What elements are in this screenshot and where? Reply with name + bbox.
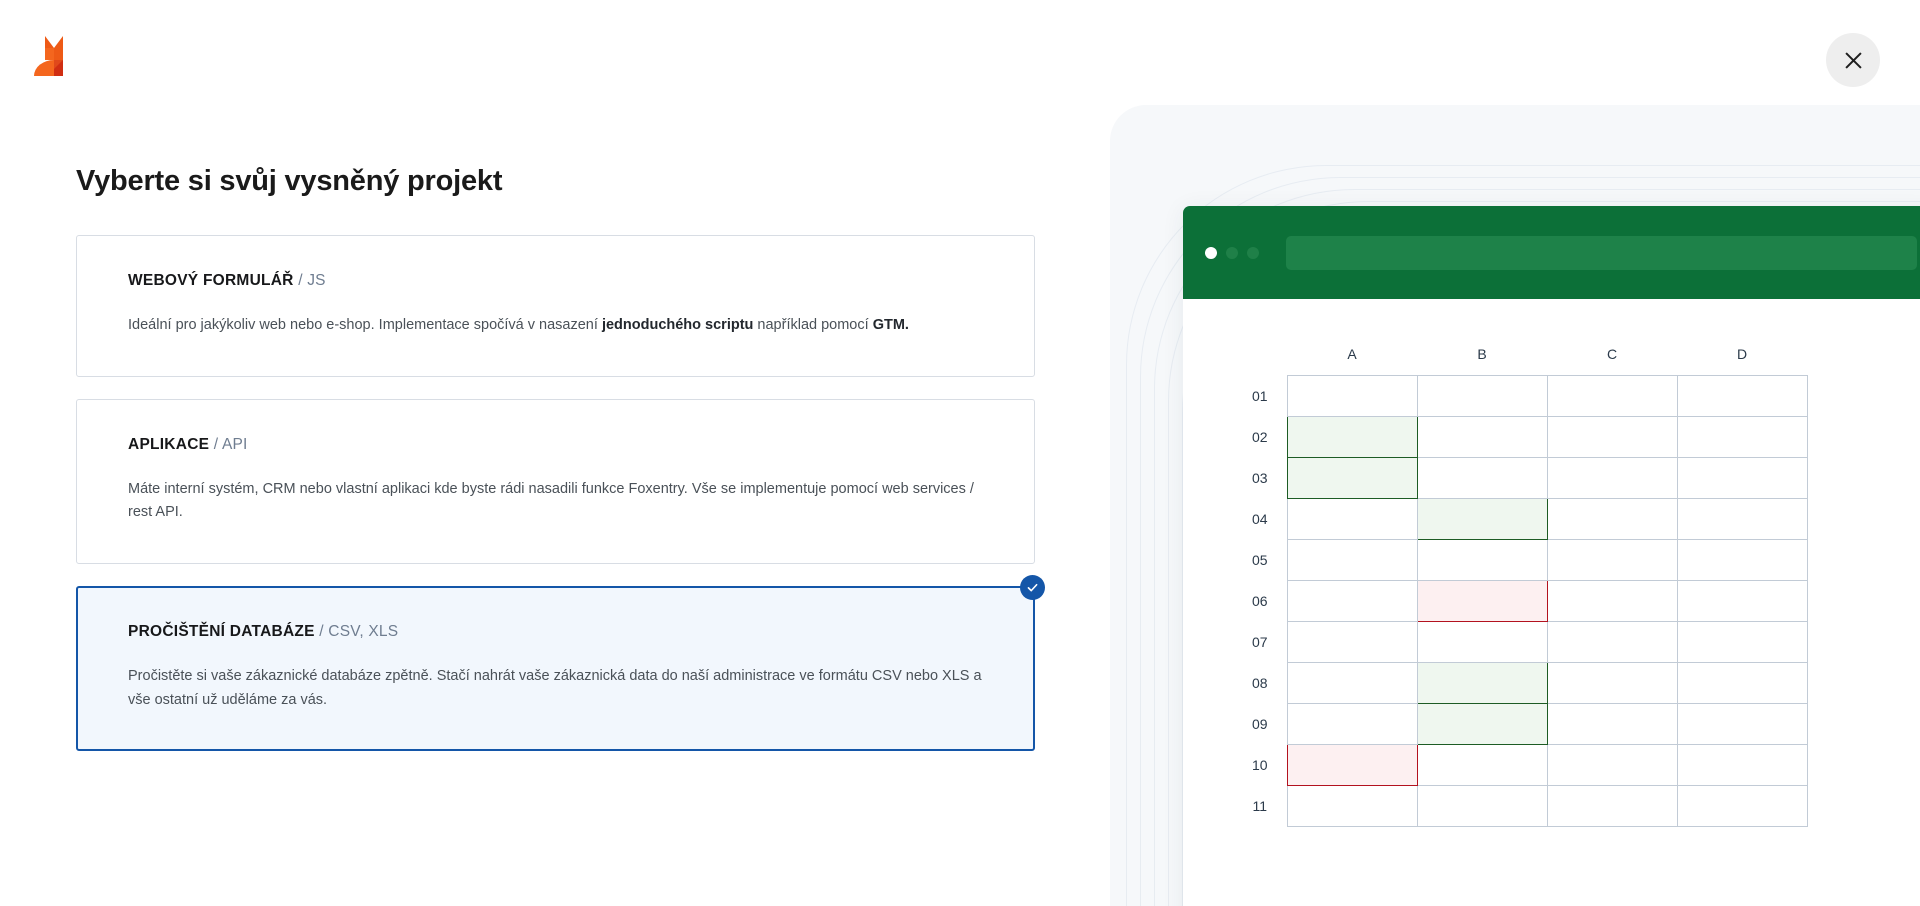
status-badge (1020, 575, 1045, 600)
screen-root: × Vyberte si svůj vysněný projekt WEBOVÝ… (0, 0, 1920, 906)
option-card-format: / API (214, 436, 248, 453)
option-card-format: / JS (298, 272, 326, 289)
option-card-description: Ideální pro jakýkoliv web nebo e-shop. I… (128, 314, 983, 338)
spreadsheet-row-header: 09 (1233, 703, 1287, 744)
spreadsheet-cell-B02[interactable] (1417, 416, 1547, 457)
option-card-description: Pročistěte si vaše zákaznické databáze z… (128, 665, 983, 712)
spreadsheet-cell-C06[interactable] (1547, 580, 1677, 621)
close-button[interactable]: × (1826, 33, 1880, 87)
spreadsheet-cell-C02[interactable] (1547, 416, 1677, 457)
spreadsheet-cell-A09[interactable] (1287, 703, 1417, 744)
spreadsheet-cell-D04[interactable] (1677, 498, 1807, 539)
spreadsheet-cell-C05[interactable] (1547, 539, 1677, 580)
option-card-list: WEBOVÝ FORMULÁŘ / JS Ideální pro jakýkol… (76, 235, 1035, 773)
spreadsheet-row: 07 (1233, 621, 1807, 662)
spreadsheet-row-header: 02 (1233, 416, 1287, 457)
window-dot-active (1205, 247, 1217, 259)
spreadsheet-row-header: 07 (1233, 621, 1287, 662)
spreadsheet-cell-A08[interactable] (1287, 662, 1417, 703)
desc-segment-bold: jednoduchého scriptu (602, 317, 753, 333)
spreadsheet-cell-B05[interactable] (1417, 539, 1547, 580)
spreadsheet-column-header: D (1677, 333, 1807, 375)
spreadsheet-cell-B01[interactable] (1417, 375, 1547, 416)
spreadsheet-cell-D11[interactable] (1677, 785, 1807, 826)
spreadsheet-row-header: 11 (1233, 785, 1287, 826)
option-card-title: WEBOVÝ FORMULÁŘ / JS (128, 272, 983, 290)
spreadsheet-cell-A04[interactable] (1287, 498, 1417, 539)
option-card-application[interactable]: APLIKACE / API Máte interní systém, CRM … (76, 399, 1035, 564)
spreadsheet-grid: A B C D 0102030405060708091011 (1233, 333, 1808, 827)
spreadsheet-cell-D01[interactable] (1677, 375, 1807, 416)
spreadsheet-cell-A02[interactable] (1287, 416, 1417, 457)
spreadsheet-cell-A06[interactable] (1287, 580, 1417, 621)
page-title: Vyberte si svůj vysněný projekt (76, 165, 502, 198)
spreadsheet-cell-D05[interactable] (1677, 539, 1807, 580)
spreadsheet-cell-B11[interactable] (1417, 785, 1547, 826)
spreadsheet-cell-B04[interactable] (1417, 498, 1547, 539)
spreadsheet-cell-A10[interactable] (1287, 744, 1417, 785)
desc-segment: Máte interní systém, CRM nebo vlastní ap… (128, 481, 974, 521)
browser-titlebar (1183, 206, 1920, 299)
spreadsheet-cell-A03[interactable] (1287, 457, 1417, 498)
spreadsheet-cell-C07[interactable] (1547, 621, 1677, 662)
option-card-title-text: PROČIŠTĚNÍ DATABÁZE (128, 623, 315, 640)
option-card-format: / CSV, XLS (319, 623, 398, 640)
spreadsheet-cell-A11[interactable] (1287, 785, 1417, 826)
spreadsheet-row-header: 01 (1233, 375, 1287, 416)
spreadsheet-row: 06 (1233, 580, 1807, 621)
spreadsheet-row-header: 03 (1233, 457, 1287, 498)
option-card-title-text: APLIKACE (128, 436, 209, 453)
spreadsheet-column-header: C (1547, 333, 1677, 375)
spreadsheet-row: 01 (1233, 375, 1807, 416)
spreadsheet-row: 04 (1233, 498, 1807, 539)
desc-segment: Pročistěte si vaše zákaznické databáze z… (128, 668, 982, 708)
option-card-database-cleanup[interactable]: PROČIŠTĚNÍ DATABÁZE / CSV, XLS Pročistět… (76, 586, 1035, 751)
spreadsheet-row: 10 (1233, 744, 1807, 785)
spreadsheet-row-header: 08 (1233, 662, 1287, 703)
desc-segment: například pomocí (753, 317, 872, 333)
spreadsheet-cell-D03[interactable] (1677, 457, 1807, 498)
spreadsheet-cell-D08[interactable] (1677, 662, 1807, 703)
spreadsheet-cell-C01[interactable] (1547, 375, 1677, 416)
preview-panel: A B C D 0102030405060708091011 (1110, 105, 1920, 906)
spreadsheet-cell-C04[interactable] (1547, 498, 1677, 539)
spreadsheet-column-header: A (1287, 333, 1417, 375)
spreadsheet-cell-A05[interactable] (1287, 539, 1417, 580)
spreadsheet-cell-A01[interactable] (1287, 375, 1417, 416)
spreadsheet-body: 0102030405060708091011 (1233, 375, 1807, 826)
spreadsheet-row: 05 (1233, 539, 1807, 580)
spreadsheet-row: 02 (1233, 416, 1807, 457)
spreadsheet-cell-B09[interactable] (1417, 703, 1547, 744)
spreadsheet-row: 08 (1233, 662, 1807, 703)
spreadsheet-column-header-row: A B C D (1233, 333, 1807, 375)
spreadsheet-row: 09 (1233, 703, 1807, 744)
spreadsheet-cell-D10[interactable] (1677, 744, 1807, 785)
spreadsheet-cell-D06[interactable] (1677, 580, 1807, 621)
spreadsheet-cell-C03[interactable] (1547, 457, 1677, 498)
option-card-title: APLIKACE / API (128, 436, 983, 454)
spreadsheet-cell-B10[interactable] (1417, 744, 1547, 785)
spreadsheet-cell-D07[interactable] (1677, 621, 1807, 662)
spreadsheet-cell-B07[interactable] (1417, 621, 1547, 662)
spreadsheet-row: 11 (1233, 785, 1807, 826)
option-card-web-form[interactable]: WEBOVÝ FORMULÁŘ / JS Ideální pro jakýkol… (76, 235, 1035, 377)
desc-segment: Ideální pro jakýkoliv web nebo e-shop. I… (128, 317, 602, 333)
spreadsheet-cell-C09[interactable] (1547, 703, 1677, 744)
spreadsheet-row-header: 05 (1233, 539, 1287, 580)
spreadsheet-row-header: 06 (1233, 580, 1287, 621)
spreadsheet-cell-D09[interactable] (1677, 703, 1807, 744)
spreadsheet-column-header: B (1417, 333, 1547, 375)
option-card-title-text: WEBOVÝ FORMULÁŘ (128, 272, 294, 289)
spreadsheet-cell-A07[interactable] (1287, 621, 1417, 662)
desc-segment-bold: GTM. (873, 317, 909, 333)
spreadsheet-row-header: 10 (1233, 744, 1287, 785)
browser-url-bar[interactable] (1286, 236, 1917, 270)
spreadsheet-cell-C11[interactable] (1547, 785, 1677, 826)
spreadsheet-cell-D02[interactable] (1677, 416, 1807, 457)
window-dot (1226, 247, 1238, 259)
option-card-title: PROČIŠTĚNÍ DATABÁZE / CSV, XLS (128, 623, 983, 641)
spreadsheet-cell-B08[interactable] (1417, 662, 1547, 703)
options-column: Vyberte si svůj vysněný projekt WEBOVÝ F… (0, 0, 1110, 906)
window-dot (1247, 247, 1259, 259)
spreadsheet-cell-C10[interactable] (1547, 744, 1677, 785)
spreadsheet-row-header: 04 (1233, 498, 1287, 539)
browser-mockup: A B C D 0102030405060708091011 (1183, 206, 1920, 906)
spreadsheet-cell-C08[interactable] (1547, 662, 1677, 703)
option-card-description: Máte interní systém, CRM nebo vlastní ap… (128, 478, 983, 525)
spreadsheet-mockup: A B C D 0102030405060708091011 (1183, 299, 1920, 827)
spreadsheet-cell-B03[interactable] (1417, 457, 1547, 498)
close-icon (1842, 49, 1865, 72)
spreadsheet-row: 03 (1233, 457, 1807, 498)
spreadsheet-corner-cell (1233, 333, 1287, 375)
spreadsheet-cell-B06[interactable] (1417, 580, 1547, 621)
check-circle-icon (1025, 580, 1040, 595)
